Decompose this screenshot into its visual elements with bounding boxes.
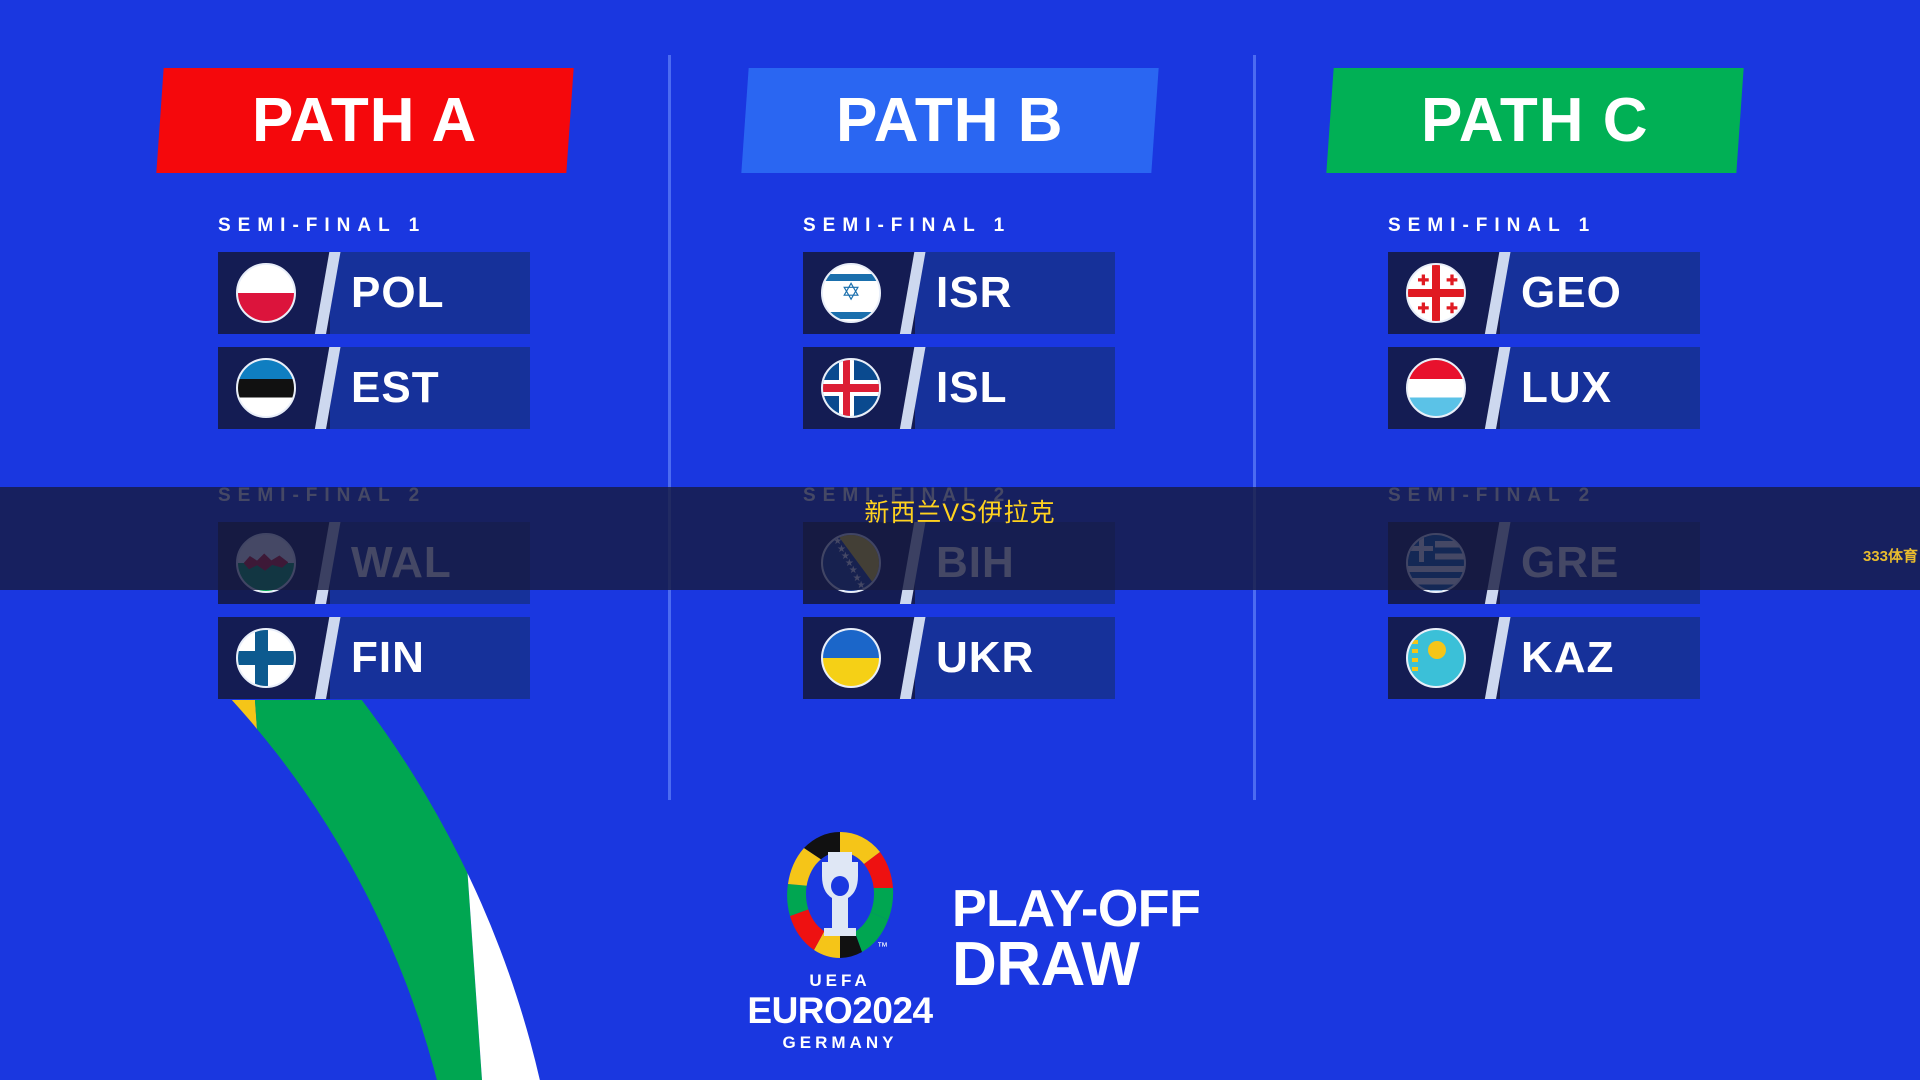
uefa-label: UEFA [747,972,932,989]
estonia-flag [236,358,296,418]
kazakhstan-flag [1406,628,1466,688]
euro-wordmark: UEFA EURO2024 GERMANY [747,972,932,1051]
georgia-flag: ✚✚✚✚ [1406,263,1466,323]
team-list: ✡ISRISL [803,252,1225,429]
finland-flag [236,628,296,688]
euro-trophy-icon: ™ [784,828,896,968]
path-c-column: PATH CSEMI-FINAL 1✚✚✚✚GEOLUXSEMI-FINAL 2… [1330,0,1810,712]
path-b-semifinal-1-label: SEMI-FINAL 1 [803,215,1225,237]
path-a-column: PATH ASEMI-FINAL 1POLESTSEMI-FINAL 2WALF… [160,0,640,712]
path-b-header: PATH B [741,68,1158,173]
team-code: ISR [936,252,1012,334]
path-c-title: PATH C [1421,90,1649,152]
team-code: FIN [351,617,425,699]
ukraine-flag [821,628,881,688]
germany-label: GERMANY [747,1034,932,1051]
team-row[interactable]: POL [218,252,530,334]
iceland-flag [821,358,881,418]
team-code: EST [351,347,440,429]
team-row[interactable]: ✚✚✚✚GEO [1388,252,1700,334]
poland-flag [236,263,296,323]
team-row[interactable]: FIN [218,617,530,699]
team-row[interactable]: UKR [803,617,1115,699]
team-code: POL [351,252,444,334]
path-c-header: PATH C [1326,68,1743,173]
team-code: GEO [1521,252,1622,334]
team-row[interactable]: EST [218,347,530,429]
path-a-header: PATH A [156,68,573,173]
luxembourg-flag [1406,358,1466,418]
team-row[interactable]: KAZ [1388,617,1700,699]
team-list: ✚✚✚✚GEOLUX [1388,252,1810,429]
footer-branding: ™ UEFA EURO2024 GERMANY PLAY-OFF DRAW [760,828,1200,1051]
svg-text:™: ™ [877,941,888,953]
team-row[interactable]: LUX [1388,347,1700,429]
team-code: LUX [1521,347,1612,429]
team-row[interactable]: ISL [803,347,1115,429]
path-b-column: PATH BSEMI-FINAL 1✡ISRISLSEMI-FINAL 2★★★… [745,0,1225,712]
path-a-title: PATH A [252,90,477,152]
israel-flag: ✡ [821,263,881,323]
overlay-watermark: 333体育 [1863,545,1918,566]
overlay-match-title: 新西兰VS伊拉克 [0,493,1920,529]
team-row[interactable]: ✡ISR [803,252,1115,334]
headline-line-2: DRAW [952,935,1200,995]
team-list: POLEST [218,252,640,429]
team-code: ISL [936,347,1007,429]
team-code: KAZ [1521,617,1614,699]
headline-line-1: PLAY-OFF [952,885,1200,935]
path-b-title: PATH B [836,90,1064,152]
team-code: UKR [936,617,1034,699]
path-c-semifinal-1-label: SEMI-FINAL 1 [1388,215,1810,237]
euro-2024-logo: ™ UEFA EURO2024 GERMANY [760,828,920,1051]
path-a-semifinal-1-label: SEMI-FINAL 1 [218,215,640,237]
playoff-draw-headline: PLAY-OFF DRAW [952,885,1200,994]
paths-container: PATH ASEMI-FINAL 1POLESTSEMI-FINAL 2WALF… [0,0,1920,820]
playoff-draw-graphic: PATH ASEMI-FINAL 1POLESTSEMI-FINAL 2WALF… [0,0,1920,1080]
euro-2024-label: EURO2024 [747,992,932,1029]
